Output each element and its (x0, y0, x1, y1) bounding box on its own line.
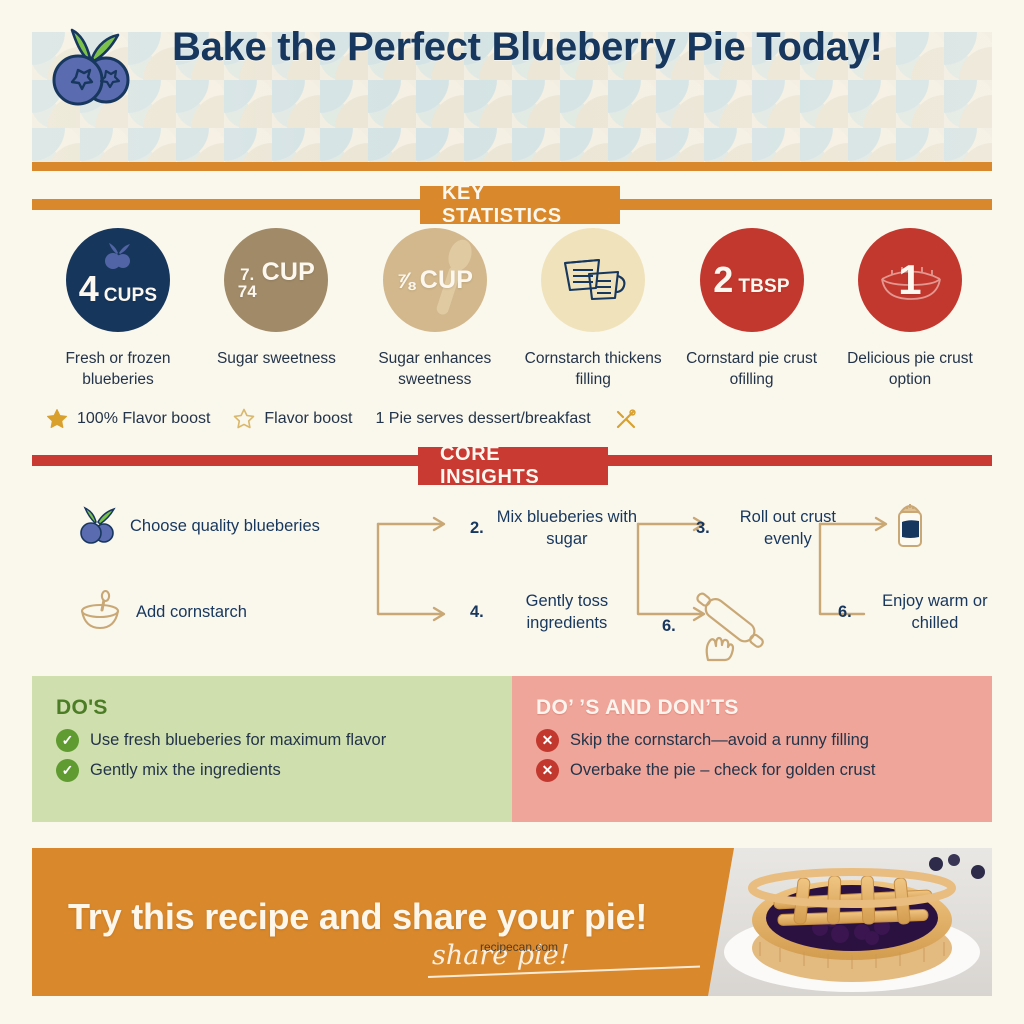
stat-value: 7. 74 CUP (238, 260, 315, 300)
dos-item: ✓ Gently mix the ingredients (56, 759, 490, 782)
stat-fraction-top: 7. (240, 267, 254, 284)
stat-card: Cornstarch thickens filling (517, 228, 669, 393)
core-insights-flow: Choose quality blueberies 2. Mix blueber… (32, 492, 992, 664)
core-insights-label: CORE INSIGHTS (418, 447, 608, 485)
salt-shaker-icon (892, 496, 928, 550)
stat-unit: TBSP (738, 277, 789, 296)
flow-step-text: Roll out crust evenly (720, 506, 856, 550)
stat-fraction-bottom: 74 (238, 284, 257, 301)
stat-circle: 1 (858, 228, 962, 332)
stat-unit: CUP (262, 260, 315, 285)
stat-card: 1 Delicious pie crust option (834, 228, 986, 393)
flow-step-text: Gently toss ingredients (494, 590, 640, 634)
rolling-pin-icon (686, 590, 772, 662)
flow-step-number: 2. (470, 517, 484, 539)
stat-circle: 4 CUPS (66, 228, 170, 332)
stat-label: Cornstarch thickens filling (517, 348, 669, 391)
donts-title: DO’ ’S AND DON’TS (536, 696, 970, 720)
stat-circle (541, 228, 645, 332)
stat-card: 7. 74 CUP Sugar sweetness (200, 228, 352, 393)
stat-circle: 2 TBSP (700, 228, 804, 332)
donts-item-text: Skip the cornstarch—avoid a runny fillin… (570, 731, 869, 750)
crossed-utensils-icon (614, 407, 638, 431)
blueberry-icon (46, 24, 138, 110)
stat-circle: ⅞ CUP (383, 228, 487, 332)
stat-unit: CUP (420, 268, 473, 293)
stat-card: ⅞ CUP Sugar enhances sweetness (359, 228, 511, 393)
donts-item: ✕ Overbake the pie – check for golden cr… (536, 759, 970, 782)
donts-panel: DO’ ’S AND DON’TS ✕ Skip the cornstarch—… (512, 676, 992, 822)
stat-circle: 7. 74 CUP (224, 228, 328, 332)
dos-item-text: Gently mix the ingredients (90, 761, 281, 780)
flow-step: Choose quality blueberies (76, 506, 336, 546)
star-filled-icon (46, 408, 68, 430)
donts-item-text: Overbake the pie – check for golden crus… (570, 761, 875, 780)
flow-step: 4. Gently toss ingredients (470, 590, 640, 634)
stat-number: 2 (713, 262, 733, 298)
stat-label: Sugar enhances sweetness (359, 348, 511, 391)
check-icon: ✓ (56, 759, 79, 782)
rating-filled-text: 100% Flavor boost (77, 410, 210, 428)
stat-card: 4 CUPS Fresh or frozen blueberies (42, 228, 194, 393)
flow-step-text: Add cornstarch (136, 601, 247, 623)
stat-label: Cornstard pie crust ofilling (676, 348, 828, 391)
flow-step-text: Mix blueberies with sugar (494, 506, 640, 550)
dos-item: ✓ Use fresh blueberies for maximum flavo… (56, 729, 490, 752)
stat-value: 2 TBSP (713, 262, 790, 298)
blueberry-lattice-pie-photo (700, 848, 992, 996)
stat-card: 2 TBSP Cornstard pie crust ofilling (676, 228, 828, 393)
rating-serves-text: 1 Pie serves dessert/breakfast (375, 410, 590, 428)
statistics-row: 4 CUPS Fresh or frozen blueberies 7. 74 … (42, 228, 986, 393)
stat-number: 1 (898, 259, 921, 301)
flow-step: 6. (662, 590, 772, 662)
flow-step: 3. Roll out crust evenly (696, 506, 856, 550)
infographic-page: Bake the Perfect Blueberry Pie Today! KE… (0, 0, 1024, 1024)
stat-fraction: 7. 74 (238, 267, 257, 300)
page-title: Bake the Perfect Blueberry Pie Today! (172, 22, 932, 73)
flow-step-number: 3. (696, 517, 710, 539)
stat-number: 4 (79, 271, 99, 307)
blueberries-icon (100, 242, 136, 270)
dos-panel: DO'S ✓ Use fresh blueberies for maximum … (32, 676, 512, 822)
flow-step-text: Choose quality blueberies (130, 515, 320, 537)
star-outline-icon (233, 408, 255, 430)
check-icon: ✓ (56, 729, 79, 752)
flow-step-number: 6. (662, 615, 676, 637)
blueberries-icon (76, 506, 120, 546)
stat-label: Fresh or frozen blueberies (42, 348, 194, 391)
cta-banner[interactable]: Try this recipe and share your pie! shar… (32, 848, 992, 996)
flow-step: 6. Enjoy warm or chilled (838, 590, 1008, 634)
cross-icon: ✕ (536, 729, 559, 752)
flow-connector-bracket (372, 510, 462, 626)
rating-empty-text: Flavor boost (264, 410, 352, 428)
dos-item-text: Use fresh blueberies for maximum flavor (90, 731, 386, 750)
stat-unit: CUPS (104, 286, 158, 305)
stat-value: ⅞ CUP (396, 268, 473, 293)
dos-title: DO'S (56, 696, 490, 720)
flow-step (892, 496, 928, 550)
cta-title: Try this recipe and share your pie! (68, 896, 728, 938)
header-divider (32, 162, 992, 171)
stat-number: ⅞ (396, 270, 414, 292)
watermark: recipecan.com (480, 940, 558, 954)
cross-icon: ✕ (536, 759, 559, 782)
flow-step-number: 4. (470, 601, 484, 623)
flow-step: Add cornstarch (76, 590, 356, 634)
flow-step: 2. Mix blueberies with sugar (470, 506, 640, 550)
flow-step-number: 6. (838, 601, 852, 623)
flow-step-text: Enjoy warm or chilled (862, 590, 1008, 634)
stat-label: Delicious pie crust option (834, 348, 986, 391)
stat-value: 4 CUPS (79, 271, 158, 307)
measuring-cups-icon (559, 252, 627, 308)
rating-strip: 100% Flavor boost Flavor boost 1 Pie ser… (46, 404, 638, 434)
stat-label: Sugar sweetness (217, 348, 336, 369)
stat-value: 1 (898, 259, 921, 301)
key-statistics-label: KEY STATISTICS (420, 186, 620, 224)
donts-item: ✕ Skip the cornstarch—avoid a runny fill… (536, 729, 970, 752)
bowl-spoon-icon (76, 590, 126, 634)
